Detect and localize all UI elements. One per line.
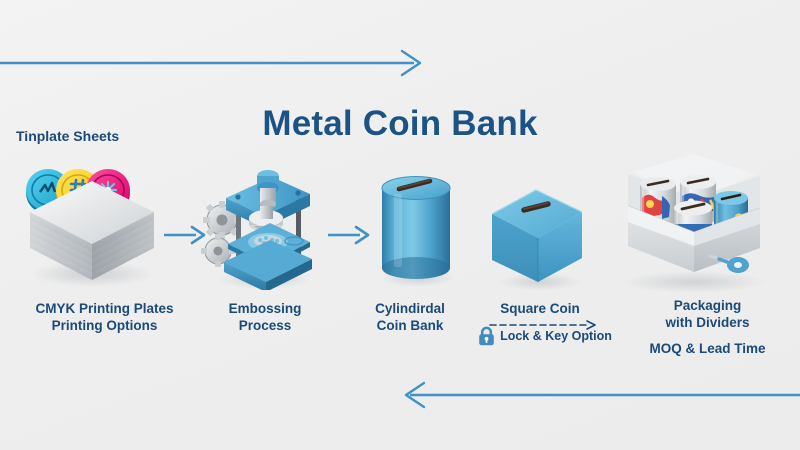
caption-packaging: Packaging with Dividers bbox=[630, 297, 785, 331]
caption-line-2: Process bbox=[200, 317, 330, 334]
caption-embossing: Embossing Process bbox=[200, 300, 330, 334]
caption-cmyk-printing: CMYK Printing Plates Printing Options bbox=[2, 300, 207, 334]
bottom-flow-arrow bbox=[398, 378, 800, 412]
caption-line-1: Packaging bbox=[630, 297, 785, 314]
top-flow-arrow bbox=[0, 46, 430, 80]
caption-line-1: Cylindirdal bbox=[345, 300, 475, 317]
press-ram bbox=[257, 170, 279, 209]
embossing-press-icon bbox=[198, 168, 326, 290]
caption-square-coin: Square Coin bbox=[470, 300, 610, 317]
lock-key-option-row: Lock & Key Option bbox=[470, 326, 620, 346]
tinplate-heading: Tinplate Sheets bbox=[16, 128, 119, 145]
caption-cylindrical: Cylindirdal Coin Bank bbox=[345, 300, 475, 334]
tinplate-sheet-stack-icon bbox=[14, 160, 174, 290]
caption-line-2: Printing Options bbox=[2, 317, 207, 334]
caption-line-1: CMYK Printing Plates bbox=[2, 300, 207, 317]
square-coin-bank-icon bbox=[482, 184, 594, 292]
page-title: Metal Coin Bank bbox=[0, 104, 800, 144]
infographic-canvas: Metal Coin Bank Tinplate Sheets bbox=[0, 0, 800, 450]
caption-line-1: Square Coin bbox=[470, 300, 610, 317]
cylindrical-coin-bank-icon bbox=[366, 162, 462, 292]
packaging-box-with-dividers-icon bbox=[598, 150, 784, 296]
caption-line-2: Coin Bank bbox=[345, 317, 475, 334]
lock-icon bbox=[478, 326, 495, 346]
caption-line-1: Embossing bbox=[200, 300, 330, 317]
caption-moq-lead-time: MOQ & Lead Time bbox=[630, 340, 785, 357]
caption-line-2: with Dividers bbox=[630, 314, 785, 331]
lock-key-option-label: Lock & Key Option bbox=[500, 329, 612, 343]
